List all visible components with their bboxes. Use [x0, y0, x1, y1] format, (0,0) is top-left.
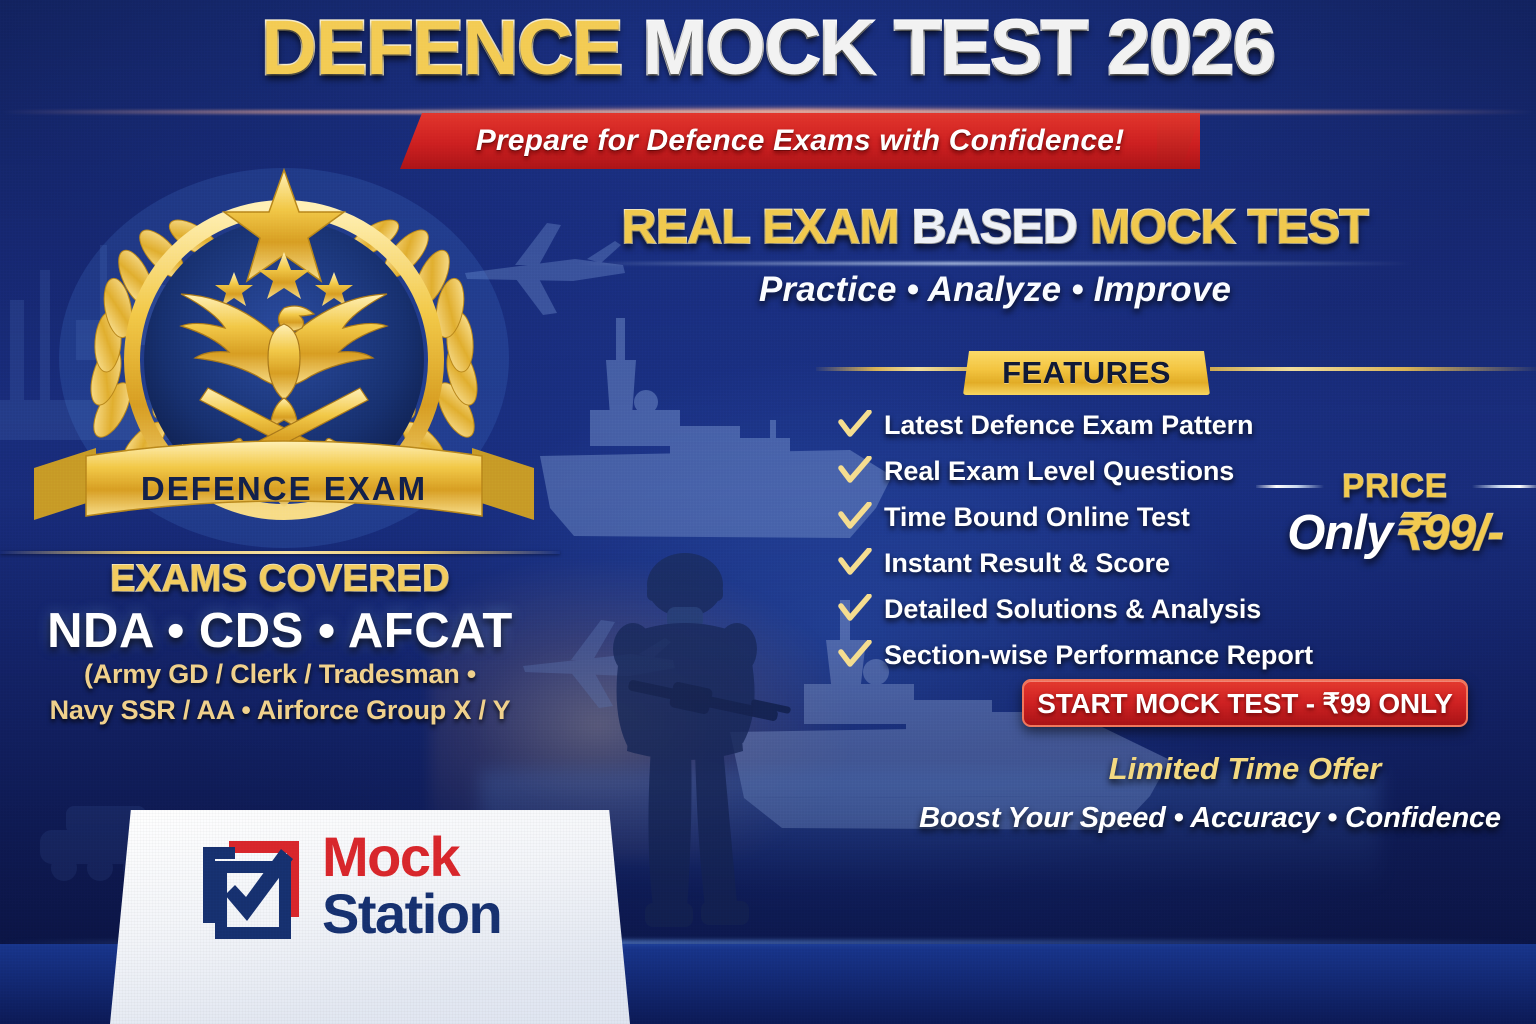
title-gold-part: DEFENCE — [261, 5, 622, 91]
feature-item: Section-wise Performance Report — [838, 634, 1398, 676]
exams-covered-sub-1: (Army GD / Clerk / Tradesman • — [0, 659, 560, 690]
price-amount: ₹99/- — [1392, 506, 1503, 560]
start-mock-test-label: START MOCK TEST - ₹99 ONLY — [1037, 687, 1453, 720]
price-label: PRICE — [1342, 467, 1448, 505]
check-icon — [838, 410, 884, 440]
headline-gold-1: REAL EXAM — [622, 201, 899, 254]
price-only-word: Only — [1287, 506, 1392, 560]
brand-wordmark: Mock Station — [322, 830, 501, 942]
main-headline: REAL EXAM BASED MOCK TEST — [575, 200, 1415, 255]
feature-item: Detailed Solutions & Analysis — [838, 588, 1398, 630]
banner-right-edge — [1157, 113, 1201, 169]
exams-covered-main: NDA • CDS • AFCAT — [0, 603, 560, 659]
start-mock-test-button[interactable]: START MOCK TEST - ₹99 ONLY — [1022, 679, 1468, 727]
page-title: DEFENCE MOCK TEST 2026 — [0, 10, 1536, 87]
poster-canvas: DEFENCE MOCK TEST 2026 Prepare for Defen… — [0, 0, 1536, 1024]
check-icon — [838, 502, 884, 532]
feature-label: Section-wise Performance Report — [884, 640, 1313, 671]
headline-divider — [575, 262, 1415, 265]
price-rule-right — [1472, 485, 1536, 488]
boost-tagline: Boost Your Speed • Accuracy • Confidence — [900, 802, 1520, 835]
check-icon — [838, 640, 884, 670]
exams-covered-sub-2: Navy SSR / AA • Airforce Group X / Y — [0, 695, 560, 726]
headline-white: BASED — [912, 201, 1078, 254]
headline-subtitle: Practice • Analyze • Improve — [575, 270, 1415, 310]
features-rule-right — [1210, 367, 1536, 371]
brand-name-line1: Mock — [322, 830, 501, 885]
brand-name-line2: Station — [322, 885, 501, 942]
defence-exam-emblem: DEFENCE EXAM — [34, 148, 534, 548]
price-heading: PRICE — [1254, 466, 1536, 506]
features-tab: FEATURES — [963, 351, 1210, 395]
feature-label: Detailed Solutions & Analysis — [884, 594, 1261, 625]
feature-label: Real Exam Level Questions — [884, 456, 1234, 487]
check-icon — [838, 594, 884, 624]
price-rule-left — [1256, 485, 1324, 488]
limited-time-offer-text: Limited Time Offer — [1022, 751, 1468, 787]
feature-label: Time Bound Online Test — [884, 502, 1190, 533]
check-icon — [838, 456, 884, 486]
subtitle-banner-text: Prepare for Defence Exams with Confidenc… — [476, 124, 1125, 158]
checkbox-document-icon — [195, 833, 313, 951]
exams-covered-heading: EXAMS COVERED — [0, 558, 560, 601]
price-block: PRICE Only₹99/- — [1254, 466, 1536, 561]
exams-divider — [0, 551, 560, 554]
features-rule-left — [816, 367, 986, 371]
feature-item: Latest Defence Exam Pattern — [838, 404, 1398, 446]
title-white-part: MOCK TEST 2026 — [643, 5, 1275, 91]
feature-label: Latest Defence Exam Pattern — [884, 410, 1253, 441]
headline-gold-2: MOCK TEST — [1090, 201, 1368, 254]
feature-label: Instant Result & Score — [884, 548, 1170, 579]
features-tab-label: FEATURES — [1002, 355, 1171, 391]
emblem-ribbon-label: DEFENCE EXAM — [141, 470, 427, 507]
price-value: Only₹99/- — [1254, 504, 1536, 561]
check-icon — [838, 548, 884, 578]
